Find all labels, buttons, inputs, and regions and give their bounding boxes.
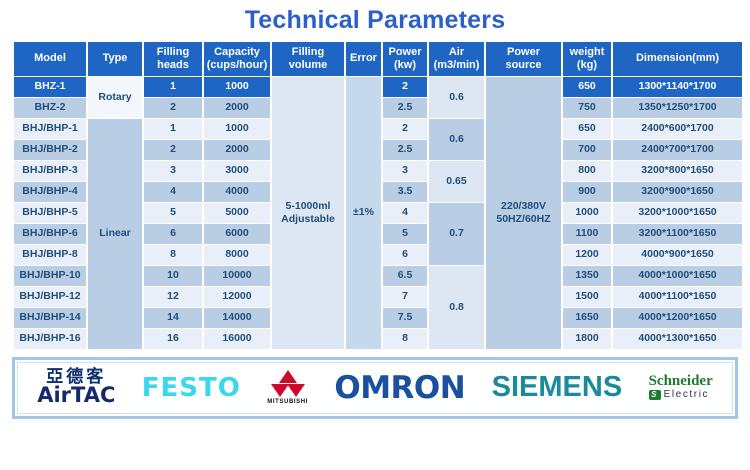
cell-capacity: 5000 — [204, 203, 270, 223]
table-header: Model Type Filling heads Capacity (cups/… — [14, 42, 742, 76]
cell-filling-heads: 8 — [144, 245, 202, 265]
cell-power: 6 — [383, 245, 427, 265]
col-header-model: Model — [14, 42, 86, 76]
table-body: BHZ-1Rotary110005-1000mlAdjustable±1%20.… — [14, 77, 742, 349]
omron-logo: OMRON — [334, 370, 465, 406]
col-header-weight-line2: (kg) — [564, 59, 610, 71]
cell-filling-heads: 3 — [144, 161, 202, 181]
cell-filling-heads: 1 — [144, 119, 202, 139]
cell-air: 0.8 — [429, 266, 484, 349]
cell-weight: 1350 — [563, 266, 611, 286]
col-header-air-line2: (m3/min) — [430, 59, 483, 71]
cell-power: 7 — [383, 287, 427, 307]
technical-parameters-table: Model Type Filling heads Capacity (cups/… — [12, 41, 744, 350]
cell-power: 2.5 — [383, 98, 427, 118]
cell-dimension: 1300*1140*1700 — [613, 77, 742, 97]
cell-power: 5 — [383, 224, 427, 244]
cell-power: 7.5 — [383, 308, 427, 328]
cell-power: 2 — [383, 77, 427, 97]
cell-weight: 800 — [563, 161, 611, 181]
cell-model: BHJ/BHP-10 — [14, 266, 86, 286]
cell-capacity: 3000 — [204, 161, 270, 181]
col-header-filling-heads: Filling heads — [144, 42, 202, 76]
cell-dimension: 4000*900*1650 — [613, 245, 742, 265]
col-header-error: Error — [346, 42, 381, 76]
cell-dimension: 3200*800*1650 — [613, 161, 742, 181]
cell-weight: 750 — [563, 98, 611, 118]
cell-capacity: 8000 — [204, 245, 270, 265]
mitsubishi-wordmark: MITSUBISHI — [267, 399, 308, 405]
cell-filling-heads: 1 — [144, 77, 202, 97]
cell-capacity: 1000 — [204, 119, 270, 139]
header-row: Model Type Filling heads Capacity (cups/… — [14, 42, 742, 76]
cell-air: 0.6 — [429, 77, 484, 118]
cell-dimension: 2400*700*1700 — [613, 140, 742, 160]
cell-weight: 1500 — [563, 287, 611, 307]
page-title: Technical Parameters — [0, 0, 750, 41]
cell-error: ±1% — [346, 77, 381, 349]
festo-logo: FESTO — [142, 373, 241, 403]
cell-filling-volume: 5-1000mlAdjustable — [272, 77, 344, 349]
cell-power-source: 220/380V50HZ/60HZ — [486, 77, 561, 349]
cell-model: BHJ/BHP-14 — [14, 308, 86, 328]
cell-weight: 1000 — [563, 203, 611, 223]
mitsubishi-diamond-icon — [271, 370, 305, 398]
cell-filling-heads: 2 — [144, 140, 202, 160]
schneider-badge-icon: S — [649, 390, 661, 400]
cell-capacity: 1000 — [204, 77, 270, 97]
cell-filling-heads: 14 — [144, 308, 202, 328]
col-header-power: Power (kw) — [383, 42, 427, 76]
cell-capacity: 6000 — [204, 224, 270, 244]
col-header-power-line2: (kw) — [384, 59, 426, 71]
mitsubishi-logo: MITSUBISHI — [267, 370, 308, 405]
cell-model: BHJ/BHP-6 — [14, 224, 86, 244]
cell-dimension: 1350*1250*1700 — [613, 98, 742, 118]
col-header-capacity-line1: Capacity — [205, 46, 269, 58]
col-header-dimension: Dimension(mm) — [613, 42, 742, 76]
cell-capacity: 4000 — [204, 182, 270, 202]
col-header-filling-volume-line1: Filling — [273, 46, 343, 58]
cell-air: 0.6 — [429, 119, 484, 160]
cell-dimension: 3200*1100*1650 — [613, 224, 742, 244]
cell-filling-volume-line1: 5-1000ml — [273, 200, 343, 212]
cell-filling-heads: 10 — [144, 266, 202, 286]
cell-power: 2.5 — [383, 140, 427, 160]
schneider-electric-text: Electric — [664, 390, 710, 401]
cell-air: 0.65 — [429, 161, 484, 202]
cell-power-source-line1: 220/380V — [487, 200, 560, 212]
cell-model: BHJ/BHP-3 — [14, 161, 86, 181]
col-header-power-source-line1: Power — [487, 46, 560, 58]
cell-type-rotary: Rotary — [88, 77, 142, 118]
cell-capacity: 12000 — [204, 287, 270, 307]
partner-logo-bar: 亞德客 AirTAC FESTO MITSUBISHI OMRON SIEMEN… — [12, 357, 738, 419]
col-header-power-source-line2: source — [487, 59, 560, 71]
cell-model: BHJ/BHP-1 — [14, 119, 86, 139]
cell-filling-heads: 6 — [144, 224, 202, 244]
cell-filling-heads: 12 — [144, 287, 202, 307]
cell-filling-heads: 2 — [144, 98, 202, 118]
col-header-capacity: Capacity (cups/hour) — [204, 42, 270, 76]
col-header-air: Air (m3/min) — [429, 42, 484, 76]
col-header-weight-line1: weight — [564, 46, 610, 58]
col-header-type: Type — [88, 42, 142, 76]
cell-model: BHJ/BHP-2 — [14, 140, 86, 160]
col-header-capacity-line2: (cups/hour) — [205, 59, 269, 71]
schneider-wordmark: Schneider — [649, 374, 713, 390]
cell-power: 8 — [383, 329, 427, 349]
cell-power-source-line2: 50HZ/60HZ — [487, 213, 560, 225]
cell-power: 4 — [383, 203, 427, 223]
cell-capacity: 10000 — [204, 266, 270, 286]
cell-weight: 650 — [563, 77, 611, 97]
cell-filling-heads: 4 — [144, 182, 202, 202]
cell-dimension: 4000*1200*1650 — [613, 308, 742, 328]
col-header-weight: weight (kg) — [563, 42, 611, 76]
cell-dimension: 3200*900*1650 — [613, 182, 742, 202]
col-header-filling-volume: Filling volume — [272, 42, 344, 76]
schneider-electric-line: S Electric — [649, 390, 710, 401]
technical-parameters-page: Technical Parameters Model Type Filling … — [0, 0, 750, 470]
cell-weight: 900 — [563, 182, 611, 202]
cell-capacity: 16000 — [204, 329, 270, 349]
cell-power: 2 — [383, 119, 427, 139]
col-header-power-source: Power source — [486, 42, 561, 76]
cell-filling-heads: 5 — [144, 203, 202, 223]
cell-dimension: 4000*1100*1650 — [613, 287, 742, 307]
cell-model: BHJ/BHP-12 — [14, 287, 86, 307]
cell-capacity: 2000 — [204, 98, 270, 118]
cell-filling-heads: 16 — [144, 329, 202, 349]
cell-weight: 1200 — [563, 245, 611, 265]
cell-dimension: 3200*1000*1650 — [613, 203, 742, 223]
cell-air: 0.7 — [429, 203, 484, 265]
col-header-filling-heads-line2: heads — [145, 59, 201, 71]
cell-model: BHJ/BHP-8 — [14, 245, 86, 265]
col-header-power-line1: Power — [384, 46, 426, 58]
cell-capacity: 14000 — [204, 308, 270, 328]
cell-dimension: 4000*1300*1650 — [613, 329, 742, 349]
cell-model: BHJ/BHP-5 — [14, 203, 86, 223]
cell-model: BHJ/BHP-4 — [14, 182, 86, 202]
cell-power: 6.5 — [383, 266, 427, 286]
col-header-filling-volume-line2: volume — [273, 59, 343, 71]
cell-model: BHJ/BHP-16 — [14, 329, 86, 349]
partner-logo-strip: 亞德客 AirTAC FESTO MITSUBISHI OMRON SIEMEN… — [17, 362, 733, 414]
cell-dimension: 2400*600*1700 — [613, 119, 742, 139]
spec-table-container: Model Type Filling heads Capacity (cups/… — [0, 41, 750, 350]
airtac-logo: 亞德客 AirTAC — [37, 369, 115, 406]
cell-weight: 650 — [563, 119, 611, 139]
cell-weight: 1800 — [563, 329, 611, 349]
cell-type-linear: Linear — [88, 119, 142, 349]
airtac-latin-text: AirTAC — [37, 385, 115, 406]
col-header-filling-heads-line1: Filling — [145, 46, 201, 58]
cell-filling-volume-line2: Adjustable — [273, 213, 343, 225]
cell-weight: 1650 — [563, 308, 611, 328]
siemens-logo: SIEMENS — [492, 371, 623, 404]
cell-dimension: 4000*1000*1650 — [613, 266, 742, 286]
cell-model: BHZ-2 — [14, 98, 86, 118]
schneider-electric-logo: Schneider S Electric — [649, 374, 713, 400]
cell-power: 3 — [383, 161, 427, 181]
cell-weight: 1100 — [563, 224, 611, 244]
table-row[interactable]: BHZ-1Rotary110005-1000mlAdjustable±1%20.… — [14, 77, 742, 97]
cell-model: BHZ-1 — [14, 77, 86, 97]
cell-capacity: 2000 — [204, 140, 270, 160]
cell-weight: 700 — [563, 140, 611, 160]
col-header-air-line1: Air — [430, 46, 483, 58]
cell-power: 3.5 — [383, 182, 427, 202]
